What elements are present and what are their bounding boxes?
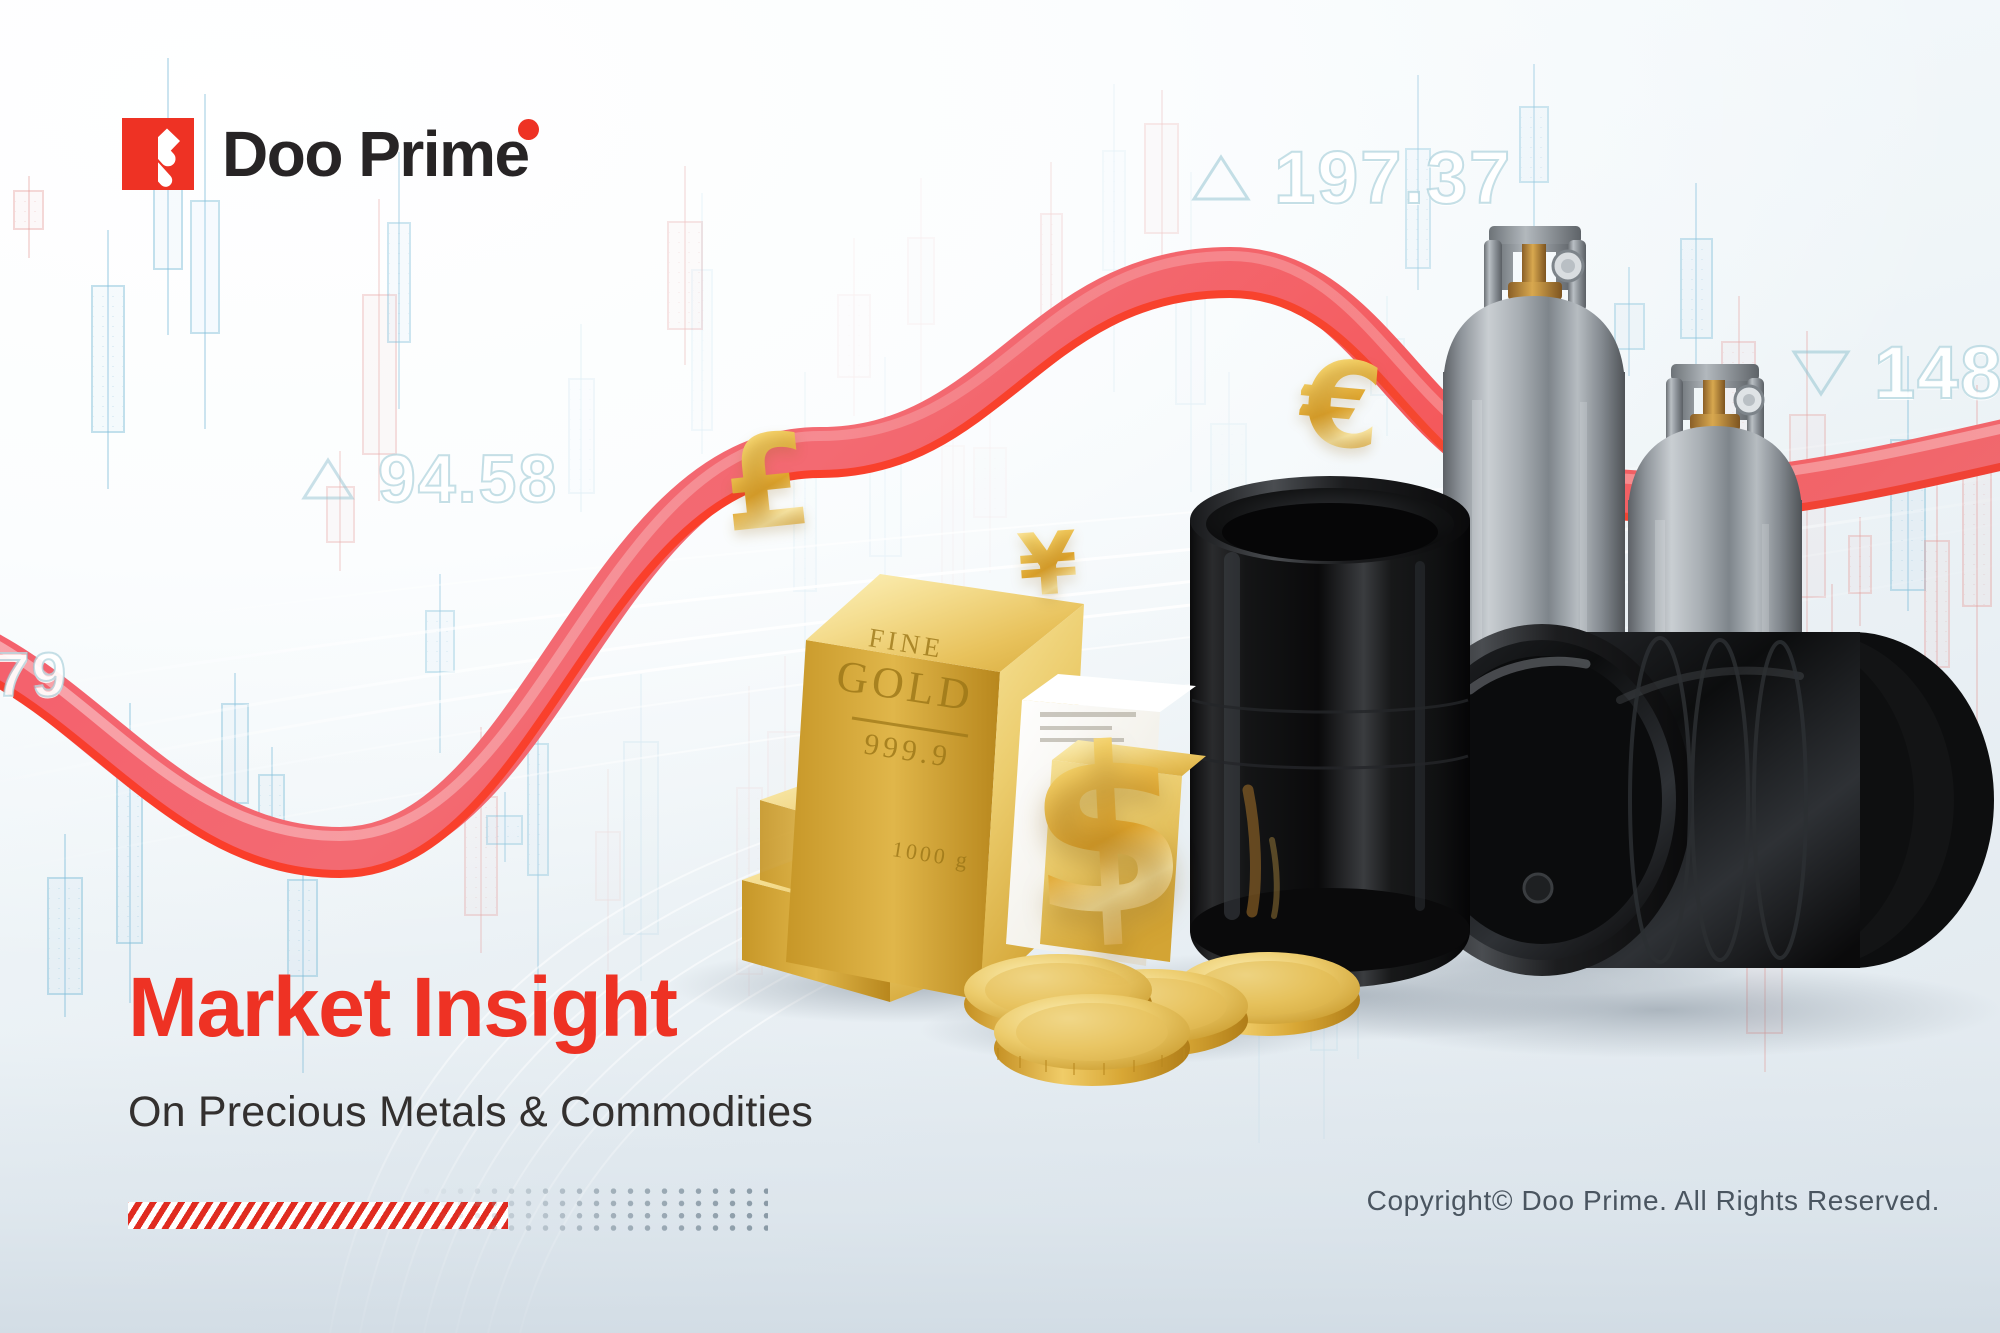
page-subtitle: On Precious Metals & Commodities [128,1091,813,1134]
decorative-accent [128,1185,768,1231]
ticker-94: 94.58 [300,440,558,518]
ticker-94-value: 94.58 [378,440,558,518]
gold-bar-weight: 1000 g [890,836,971,873]
ticker-197-value: 197.37 [1274,135,1512,220]
gas-cylinder-tall [1443,226,1625,912]
ticker-79: .79 [0,640,68,711]
gold-bar-line2: GOLD [833,651,977,721]
dot-grid [418,1185,768,1231]
market-insight-banner: FINE GOLD 999.9 1000 g [0,0,2000,1333]
pound-symbol: £ [716,416,818,553]
oil-barrel-stack [1392,624,1994,976]
gold-bar-purity: 999.9 [862,727,954,773]
copyright-text: Copyright© Doo Prime. All Rights Reserve… [1367,1185,1940,1217]
red-trend-wave [0,150,2000,910]
ticker-148-value: 148.48 [1874,330,2000,415]
headline-block: Market Insight On Precious Metals & Comm… [128,965,813,1134]
page-title: Market Insight [128,965,813,1049]
triangle-down-icon [1790,346,1852,400]
gold-bar-line1: FINE [867,622,947,664]
euro-symbol: € [1295,343,1387,468]
dollar-symbol: $ [1022,714,1192,950]
ticker-148: 148.48 [1790,330,2000,415]
doo-prime-logo-mark [122,118,194,190]
doo-prime-wordmark: Doo Prime [222,122,529,186]
doo-prime-logo[interactable]: Doo Prime [122,118,529,190]
logo-accent-dot [518,119,539,140]
doo-prime-wordmark-text: Doo Prime [222,118,529,190]
ticker-79-value: .79 [0,640,68,711]
triangle-up-icon-small [300,454,356,504]
ticker-197: 197.37 [1190,135,1512,220]
triangle-up-icon [1190,151,1252,205]
gas-cylinder-short [1628,364,1802,912]
yen-symbol: ¥ [1015,520,1081,610]
oil-barrel-black [1190,476,1470,988]
